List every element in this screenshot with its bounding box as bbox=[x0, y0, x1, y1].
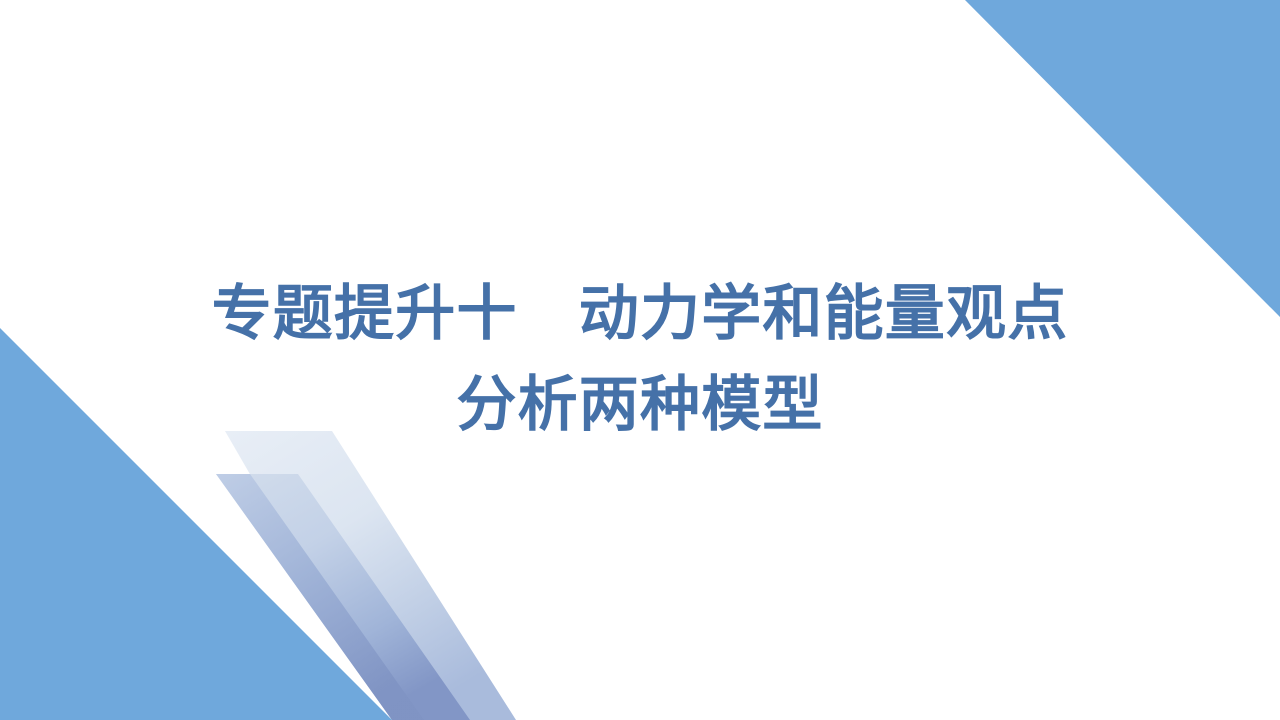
outer-chevron-band-shape bbox=[225, 431, 516, 720]
slide-title-line-2: 分析两种模型 bbox=[0, 359, 1280, 450]
inner-chevron-band-shape bbox=[216, 474, 470, 720]
deep-sliver-band-shape bbox=[216, 474, 424, 720]
slide-canvas: 专题提升十 动力学和能量观点 分析两种模型 bbox=[0, 0, 1280, 720]
slide-title-block: 专题提升十 动力学和能量观点 分析两种模型 bbox=[0, 268, 1280, 450]
slide-title-line-1: 专题提升十 动力学和能量观点 bbox=[0, 268, 1280, 359]
